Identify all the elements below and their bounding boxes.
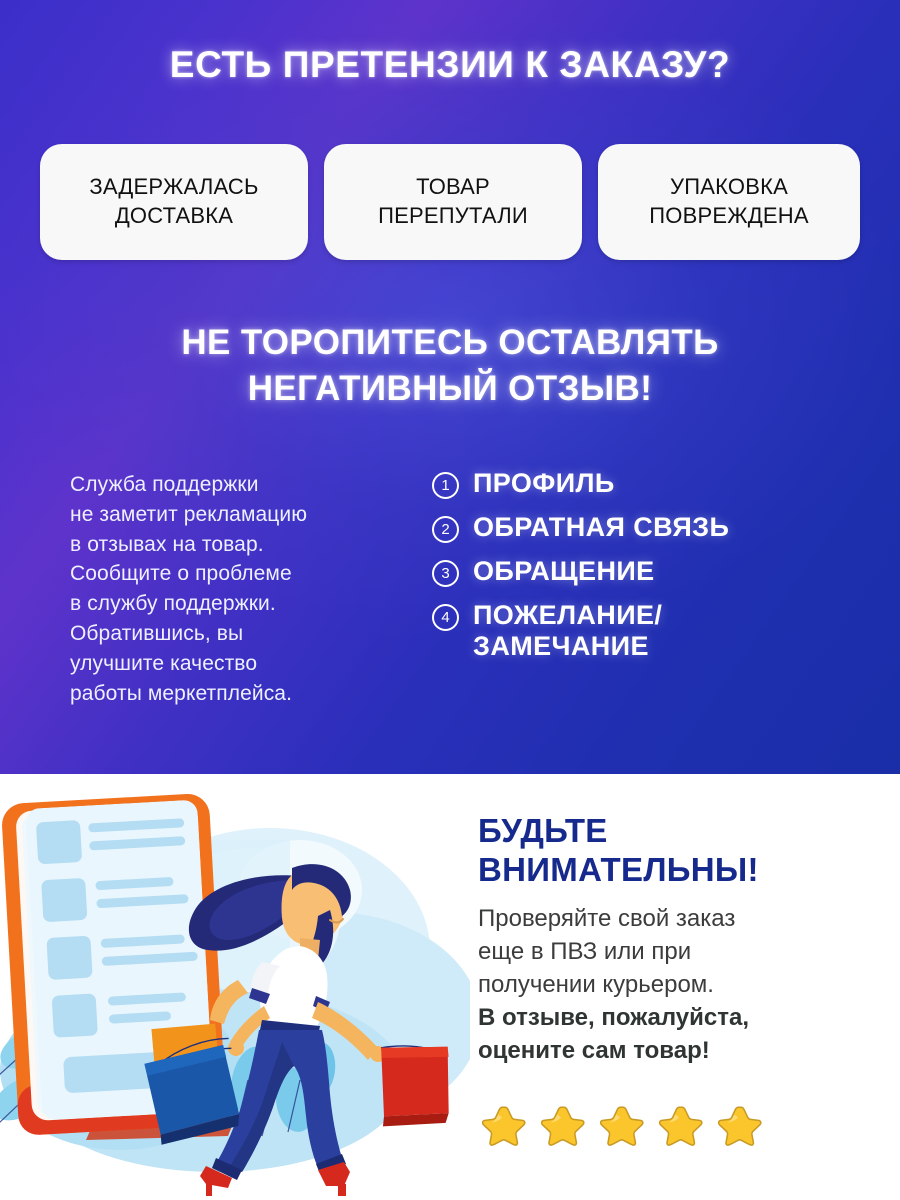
shopper-illustration: [0, 780, 470, 1200]
infographic-page: ЕСТЬ ПРЕТЕНЗИИ К ЗАКАЗУ? ЗАДЕРЖАЛАСЬ ДОС…: [0, 0, 900, 1200]
reason-card-wrong-item[interactable]: ТОВАР ПЕРЕПУТАЛИ: [324, 144, 582, 260]
page-title: ЕСТЬ ПРЕТЕНЗИИ К ЗАКАЗУ?: [0, 44, 900, 86]
attention-body-line: еще в ПВЗ или при: [478, 935, 878, 968]
step-number-circle: 3: [432, 560, 459, 587]
star-icon[interactable]: [718, 1102, 764, 1153]
reason-card-damaged-package[interactable]: УПАКОВКА ПОВРЕЖДЕНА: [598, 144, 860, 260]
step-number-circle: 1: [432, 472, 459, 499]
support-line: работы меркетплейса.: [70, 679, 400, 709]
white-panel: БУДЬТЕ ВНИМАТЕЛЬНЫ! Проверяйте свой зака…: [0, 774, 900, 1200]
step-number-circle: 4: [432, 604, 459, 631]
support-paragraph: Служба поддержки не заметит рекламацию в…: [70, 470, 400, 709]
attention-body-line: Проверяйте свой заказ: [478, 902, 878, 935]
attention-body-bold-line: В отзыве, пожалуйста,: [478, 1001, 878, 1034]
reason-card-line2: ПЕРЕПУТАЛИ: [378, 203, 528, 228]
step-item-appeal: 3 ОБРАЩЕНИЕ: [432, 556, 872, 587]
support-line: Обратившись, вы: [70, 619, 400, 649]
support-line: Служба поддержки: [70, 470, 400, 500]
step-label: ПРОФИЛЬ: [473, 468, 615, 499]
step-label-line2: ЗАМЕЧАНИЕ: [473, 631, 662, 662]
step-label: ОБРАТНАЯ СВЯЗЬ: [473, 512, 729, 543]
step-label-line1: ПОЖЕЛАНИЕ/: [473, 600, 662, 630]
support-line: Сообщите о проблеме: [70, 559, 400, 589]
claim-reason-cards: ЗАДЕРЖАЛАСЬ ДОСТАВКА ТОВАР ПЕРЕПУТАЛИ УП…: [40, 144, 860, 260]
star-icon[interactable]: [541, 1102, 587, 1153]
reason-card-line1: ТОВАР: [416, 174, 490, 199]
attention-title-line2: ВНИМАТЕЛЬНЫ!: [478, 851, 878, 890]
support-line: в службу поддержки.: [70, 589, 400, 619]
step-item-profile: 1 ПРОФИЛЬ: [432, 468, 872, 499]
star-icon[interactable]: [482, 1102, 528, 1153]
headline: НЕ ТОРОПИТЕСЬ ОСТАВЛЯТЬ НЕГАТИВНЫЙ ОТЗЫВ…: [0, 320, 900, 411]
support-line: не заметит рекламацию: [70, 500, 400, 530]
step-item-feedback: 2 ОБРАТНАЯ СВЯЗЬ: [432, 512, 872, 543]
attention-title: БУДЬТЕ ВНИМАТЕЛЬНЫ!: [478, 812, 878, 889]
attention-body-bold-line: оцените сам товар!: [478, 1034, 878, 1067]
reason-card-delivery-delayed[interactable]: ЗАДЕРЖАЛАСЬ ДОСТАВКА: [40, 144, 308, 260]
step-label: ОБРАЩЕНИЕ: [473, 556, 655, 587]
shopper-illustration-svg: [0, 780, 470, 1200]
reason-card-line2: ПОВРЕЖДЕНА: [649, 203, 808, 228]
step-label: ПОЖЕЛАНИЕ/ ЗАМЕЧАНИЕ: [473, 600, 662, 662]
star-icon[interactable]: [659, 1102, 705, 1153]
blue-panel: ЕСТЬ ПРЕТЕНЗИИ К ЗАКАЗУ? ЗАДЕРЖАЛАСЬ ДОС…: [0, 0, 900, 774]
reason-card-line1: УПАКОВКА: [670, 174, 788, 199]
support-line: улучшите качество: [70, 649, 400, 679]
headline-line1: НЕ ТОРОПИТЕСЬ ОСТАВЛЯТЬ: [181, 323, 718, 362]
attention-body: Проверяйте свой заказ еще в ПВЗ или при …: [478, 902, 878, 1068]
rating-stars[interactable]: [482, 1102, 764, 1153]
attention-title-line1: БУДЬТЕ: [478, 812, 608, 849]
support-line: в отзывах на товар.: [70, 530, 400, 560]
attention-body-line: получении курьером.: [478, 968, 878, 1001]
reason-card-line1: ЗАДЕРЖАЛАСЬ: [89, 174, 258, 199]
steps-list: 1 ПРОФИЛЬ 2 ОБРАТНАЯ СВЯЗЬ 3 ОБРАЩЕНИЕ 4…: [432, 468, 872, 675]
step-item-wish-remark: 4 ПОЖЕЛАНИЕ/ ЗАМЕЧАНИЕ: [432, 600, 872, 662]
headline-line2: НЕГАТИВНЫЙ ОТЗЫВ!: [248, 369, 653, 408]
star-icon[interactable]: [600, 1102, 646, 1153]
reason-card-line2: ДОСТАВКА: [115, 203, 233, 228]
step-number-circle: 2: [432, 516, 459, 543]
